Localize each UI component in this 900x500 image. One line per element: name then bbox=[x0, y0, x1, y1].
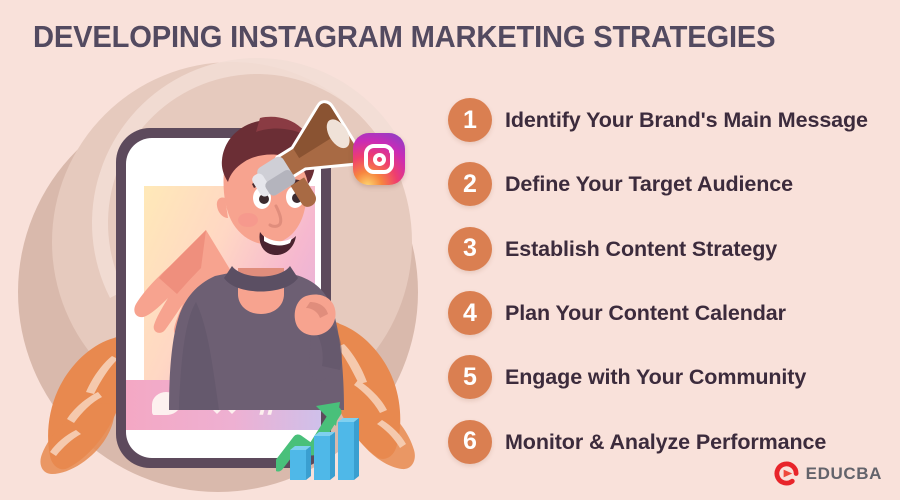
educba-logo-text: EDUCBA bbox=[806, 464, 882, 484]
list-item[interactable]: 3 Establish Content Strategy bbox=[448, 217, 900, 281]
educba-e-logo-icon bbox=[774, 461, 799, 486]
step-number-badge: 1 bbox=[448, 98, 492, 142]
instagram-lens bbox=[373, 153, 386, 166]
step-label: Define Your Target Audience bbox=[505, 171, 793, 197]
list-item[interactable]: 1 Identify Your Brand's Main Message bbox=[448, 88, 900, 152]
educba-logo[interactable]: EDUCBA bbox=[774, 461, 882, 486]
infographic-canvas: DEVELOPING INSTAGRAM MARKETING STRATEGIE… bbox=[0, 0, 900, 500]
list-item[interactable]: 5 Engage with Your Community bbox=[448, 345, 900, 409]
step-number-badge: 4 bbox=[448, 291, 492, 335]
growth-bar-chart-icon bbox=[276, 392, 376, 482]
step-label: Monitor & Analyze Performance bbox=[505, 429, 826, 455]
step-number-badge: 5 bbox=[448, 355, 492, 399]
step-label: Establish Content Strategy bbox=[505, 236, 777, 262]
step-label: Identify Your Brand's Main Message bbox=[505, 107, 868, 133]
instagram-icon bbox=[353, 133, 405, 185]
step-number-badge: 2 bbox=[448, 162, 492, 206]
steps-list: 1 Identify Your Brand's Main Message 2 D… bbox=[448, 88, 900, 474]
step-number-badge: 3 bbox=[448, 227, 492, 271]
step-number-badge: 6 bbox=[448, 420, 492, 464]
instagram-flash-dot bbox=[389, 149, 394, 154]
list-item[interactable]: 2 Define Your Target Audience bbox=[448, 152, 900, 216]
list-item[interactable]: 4 Plan Your Content Calendar bbox=[448, 281, 900, 345]
hero-illustration: # bbox=[0, 0, 440, 500]
megaphone-icon bbox=[252, 100, 362, 230]
step-label: Plan Your Content Calendar bbox=[505, 300, 786, 326]
step-label: Engage with Your Community bbox=[505, 364, 806, 390]
